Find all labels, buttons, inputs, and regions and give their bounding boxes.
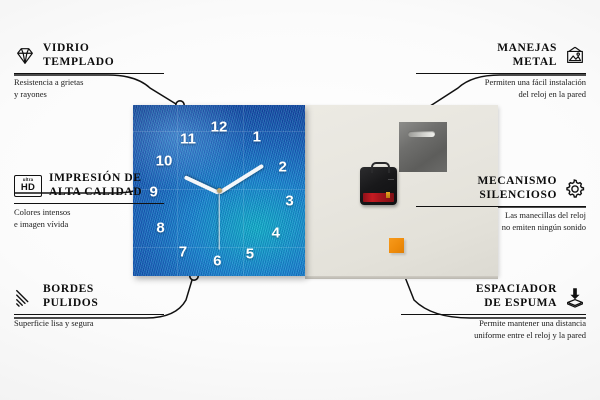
- ultra-hd-icon-main: HD: [21, 183, 35, 193]
- clock-second-hand: [218, 191, 219, 249]
- callout-title: BORDES PULIDOS: [43, 283, 98, 310]
- clock-numeral-6: 6: [213, 253, 221, 268]
- callout-subtitle: Resistencia a grietas y rayones: [14, 77, 164, 100]
- callout-rule: [14, 73, 164, 74]
- mechanism-hanging-loop: [371, 162, 390, 173]
- callout-hd-print: ultra HD IMPRESIÓN DE ALTA CALIDAD Color…: [14, 172, 164, 230]
- callout-title: IMPRESIÓN DE ALTA CALIDAD: [49, 172, 142, 199]
- clock-numeral-7: 7: [179, 245, 187, 260]
- clock-hour-hand: [184, 175, 220, 195]
- callout-rule: [416, 206, 586, 207]
- infographic-canvas: 12 1 2 3 4 5 6 7 8 9 10 11: [0, 0, 600, 400]
- gear-icon: [564, 178, 586, 200]
- foam-spacer-arrow-icon: [564, 286, 586, 308]
- callout-polished-edges: BORDES PULIDOS Superficie lisa y segura: [14, 283, 164, 330]
- diamond-icon: [14, 45, 36, 67]
- hanger-keyhole-slot: [408, 131, 435, 137]
- clock-numeral-2: 2: [278, 159, 286, 174]
- picture-hanger-icon: [564, 45, 586, 67]
- callout-foam-spacer: ESPACIADOR DE ESPUMA Permite mantener un…: [401, 283, 586, 341]
- foam-spacer-pad: [389, 238, 404, 253]
- mechanism-detail-line: [388, 179, 394, 180]
- callout-subtitle: Permiten una fácil instalación del reloj…: [416, 77, 586, 100]
- callout-subtitle: Las manecillas del reloj no emiten ningú…: [416, 210, 586, 233]
- callout-rule: [14, 203, 164, 204]
- panel-bottom-edge: [305, 276, 498, 279]
- clock-numeral-11: 11: [180, 132, 196, 147]
- metal-hanger-plate: [399, 122, 447, 172]
- mechanism-label-dot: [386, 192, 390, 198]
- clock-numeral-1: 1: [253, 130, 261, 145]
- clock-mechanism: [360, 167, 397, 205]
- callout-silent-mechanism: MECANISMO SILENCIOSO Las manecillas del …: [416, 175, 586, 233]
- callout-rule: [416, 73, 586, 74]
- callout-subtitle: Permite mantener una distancia uniforme …: [401, 318, 586, 341]
- clock-numeral-10: 10: [156, 154, 173, 169]
- ultra-hd-icon: ultra HD: [14, 175, 42, 197]
- clock-numeral-4: 4: [272, 226, 280, 241]
- clock-numeral-3: 3: [285, 193, 293, 208]
- clock-numeral-5: 5: [246, 246, 254, 261]
- clock-minute-hand: [218, 163, 264, 194]
- callout-title: MANEJAS METAL: [497, 42, 557, 69]
- callout-subtitle: Superficie lisa y segura: [14, 318, 164, 329]
- callout-metal-handles: MANEJAS METAL Permiten una fácil instala…: [416, 42, 586, 100]
- callout-subtitle: Colores intensos e imagen vívida: [14, 207, 164, 230]
- callout-title: MECANISMO SILENCIOSO: [477, 175, 557, 202]
- callout-title: ESPACIADOR DE ESPUMA: [476, 283, 557, 310]
- callout-title: VIDRIO TEMPLADO: [43, 42, 114, 69]
- clock-numeral-12: 12: [211, 120, 228, 135]
- callout-rule: [401, 314, 586, 315]
- clock-center-cap: [217, 188, 222, 193]
- mechanism-battery-label: [363, 193, 394, 202]
- callout-rule: [14, 314, 164, 315]
- callout-tempered-glass: VIDRIO TEMPLADO Resistencia a grietas y …: [14, 42, 164, 100]
- polished-edges-icon: [14, 286, 36, 308]
